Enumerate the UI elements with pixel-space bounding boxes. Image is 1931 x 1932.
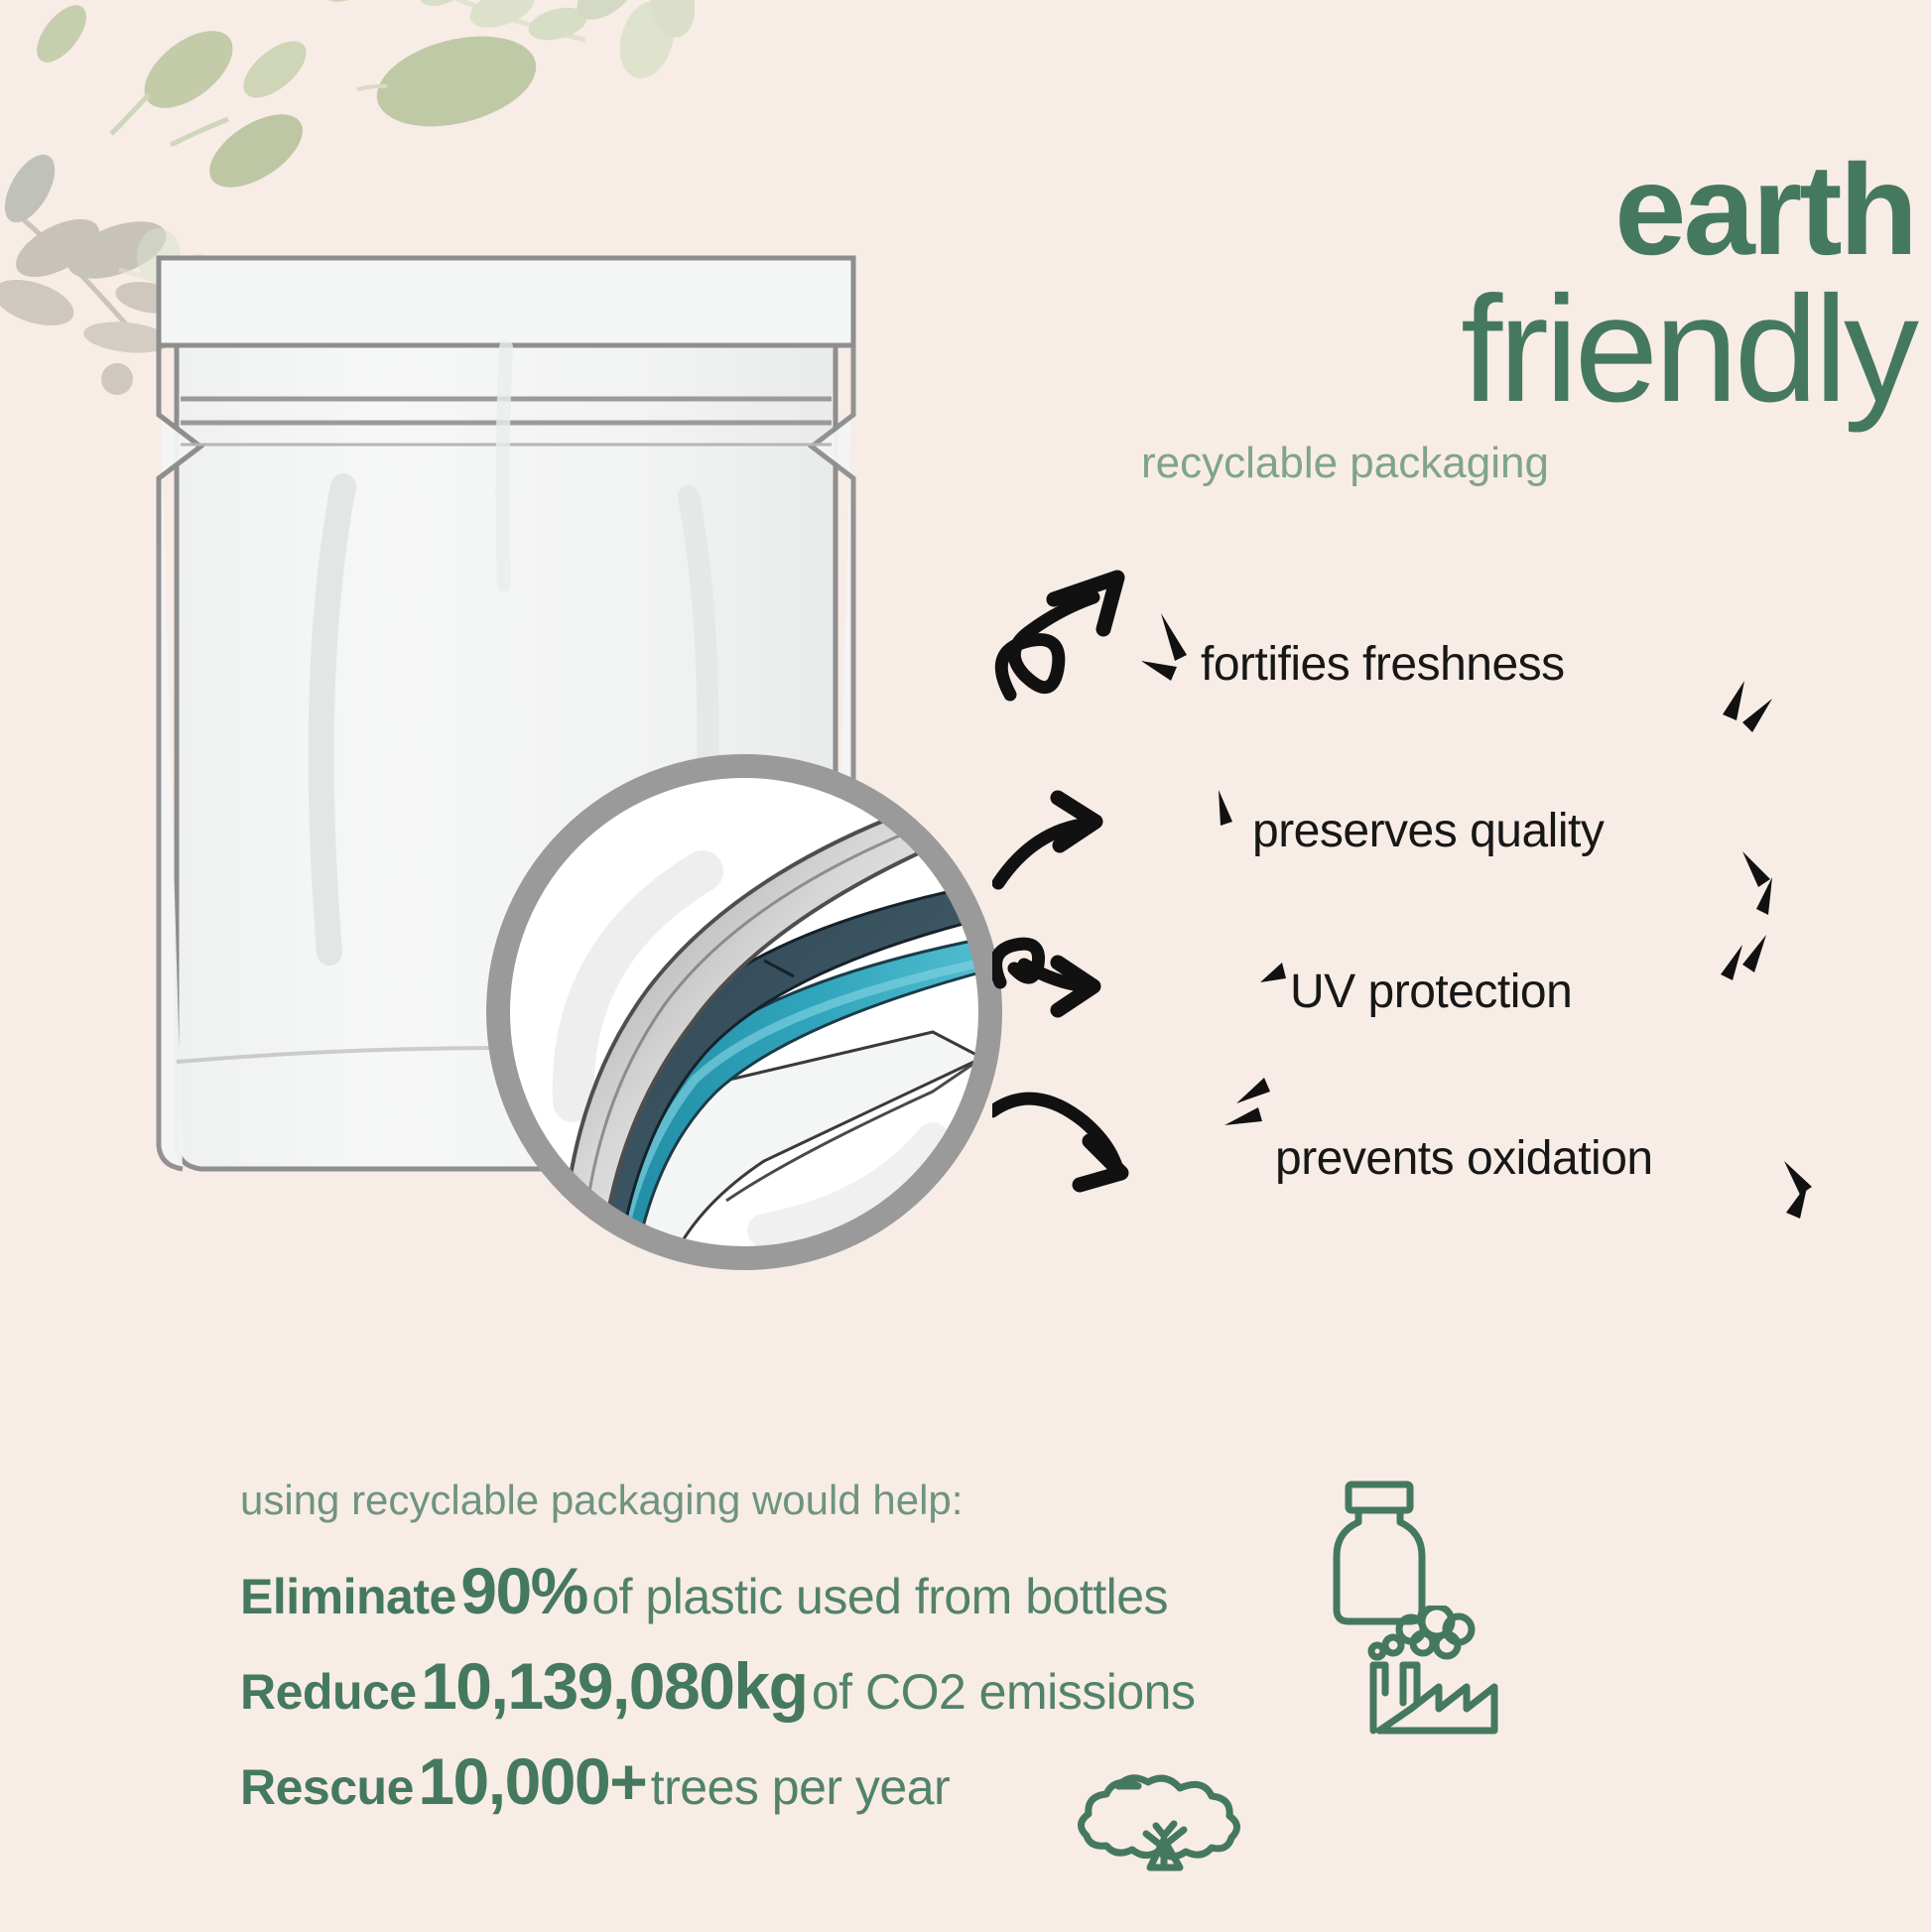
stat-value-plastic: 90%: [460, 1554, 587, 1627]
arrow-curly-1: [1001, 597, 1094, 695]
stat-value-trees: 10,000+: [418, 1744, 646, 1818]
sparkle-triangle-icon-group: [1141, 595, 1875, 1230]
stat-verb-rescue: Rescue: [240, 1759, 414, 1815]
stat-tail-trees: trees per year: [651, 1759, 950, 1815]
bottle-icon: [1325, 1477, 1444, 1625]
tree-icon: [1077, 1729, 1255, 1877]
factory-icon: [1359, 1606, 1508, 1754]
page-title-line1: earth: [1131, 149, 1915, 272]
stat-icons-group: [1052, 1459, 1608, 1915]
headline-block: earth friendly recyclable packaging: [1131, 149, 1915, 488]
page-title-line2: friendly: [1131, 274, 1915, 425]
stat-verb-reduce: Reduce: [240, 1664, 417, 1720]
magnified-layer-cutaway: [466, 734, 1022, 1290]
stat-value-co2: 10,139,080kg: [421, 1649, 807, 1723]
feature-callouts: fortifies freshness preserves quality UV…: [1141, 615, 1875, 1250]
stat-verb-eliminate: Eliminate: [240, 1569, 456, 1624]
infographic-canvas: earth friendly recyclable packaging fort…: [0, 0, 1931, 1932]
page-subtitle: recyclable packaging: [1141, 439, 1915, 488]
foliage-decoration-top: [298, 0, 695, 198]
